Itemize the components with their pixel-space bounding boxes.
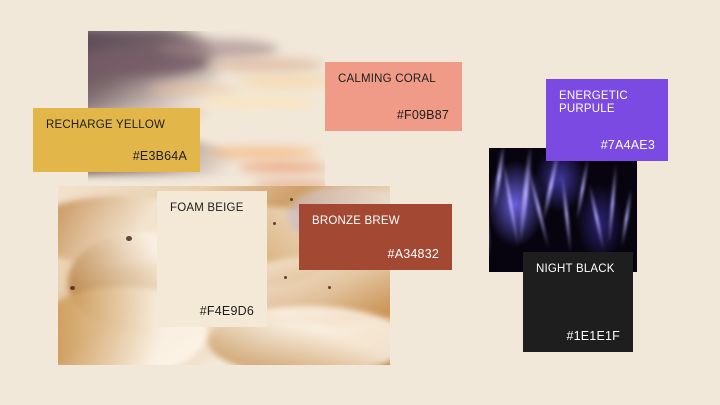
plasma-filament [588,182,605,251]
color-swatch-bronze-brew[interactable]: BRONZE BREW #A34832 [299,204,452,270]
plasma-filament [518,148,533,244]
moodboard-canvas: RECHARGE YELLOW #E3B64A CALMING CORAL #F… [0,0,720,405]
swatch-name-label: BRONZE BREW [312,215,439,228]
plasma-filament [620,188,632,248]
swatch-name-label: CALMING CORAL [338,73,449,86]
swatch-name-label: RECHARGE YELLOW [46,119,187,132]
coffee-fleck [328,286,331,289]
plasma-filament [607,162,617,246]
coffee-fleck [290,198,293,201]
cloud-shape [158,39,278,59]
cloud-shape [208,147,318,158]
swatch-hex-label: #E3B64A [46,149,187,163]
plasma-filament [575,156,589,222]
swatch-name-label: NIGHT BLACK [536,263,620,276]
cloud-shape [148,83,238,95]
coffee-fleck [273,222,276,225]
plasma-filament [489,188,491,258]
coffee-fleck [70,286,75,290]
color-swatch-recharge-yellow[interactable]: RECHARGE YELLOW #E3B64A [33,108,200,172]
plasma-filament [492,148,506,212]
color-swatch-calming-coral[interactable]: CALMING CORAL #F09B87 [325,62,462,131]
coffee-fleck [126,236,132,241]
swatch-hex-label: #7A4AE3 [559,138,655,152]
coffee-fleck [284,276,287,279]
cloud-shape [238,75,325,88]
swatch-hex-label: #1E1E1F [536,329,620,343]
cloud-shape [198,97,318,108]
plasma-filament [501,158,520,247]
swatch-name-label: FOAM BEIGE [170,202,254,215]
swatch-hex-label: #F09B87 [338,108,449,122]
color-swatch-night-black[interactable]: NIGHT BLACK #1E1E1F [523,252,633,352]
swatch-name-label: ENERGETIC PURPULE [559,90,655,116]
swatch-hex-label: #A34832 [312,247,439,261]
color-swatch-energetic-purple[interactable]: ENERGETIC PURPULE #7A4AE3 [546,79,668,161]
plasma-filament [561,174,572,254]
cloud-shape [238,163,325,172]
swatch-hex-label: #F4E9D6 [170,304,254,318]
color-swatch-foam-beige[interactable]: FOAM BEIGE #F4E9D6 [157,191,267,327]
cloud-shape [208,57,323,73]
